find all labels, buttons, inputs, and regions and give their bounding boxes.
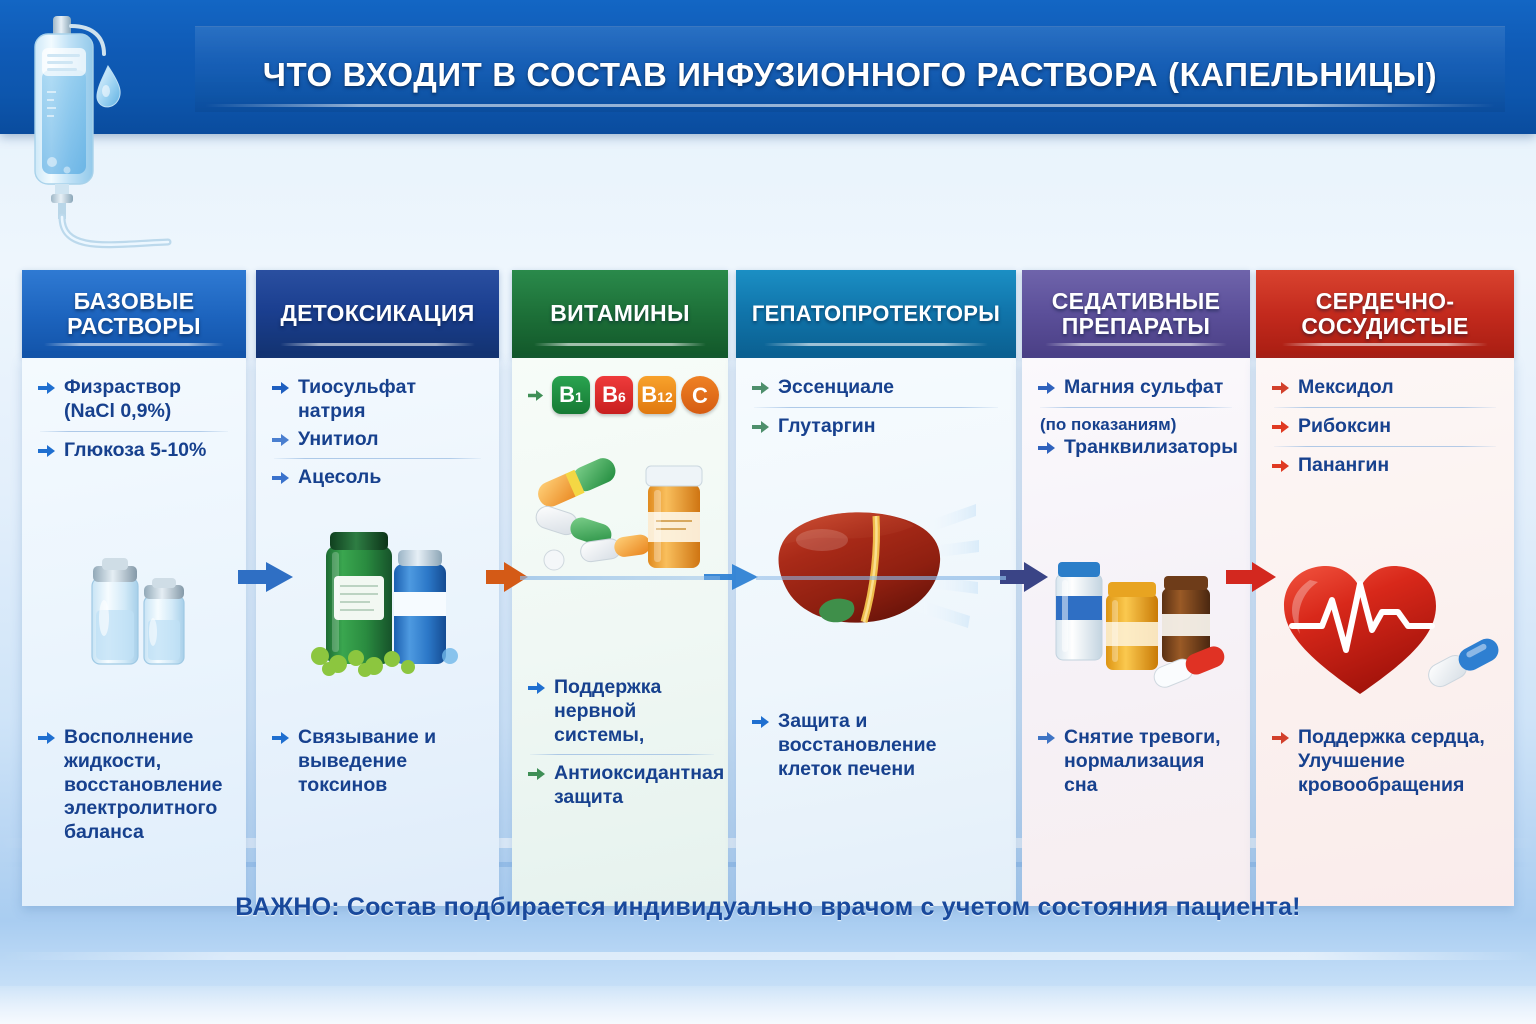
arrow-right-icon [528, 767, 546, 781]
header-shine [534, 343, 707, 346]
column-title: ДЕТОКСИКАЦИЯ [280, 301, 474, 326]
column-title-line-2: СОСУДИСТЫЕ [1301, 314, 1468, 339]
list-item[interactable]: Глутаргин [752, 415, 1000, 439]
list-item-label: Транквилизаторы [1064, 436, 1238, 460]
column-body-vitamins: B1 B6 B12 C [512, 358, 728, 906]
benefit-block: Поддержка нервной системы, Антиоксидантн… [528, 676, 716, 814]
indication-note: (по показаниям) [1040, 415, 1234, 435]
list-item[interactable]: Унитиол [272, 428, 483, 452]
column-body-sedatives: Магния сульфат (по показаниям) Транквили… [1022, 358, 1250, 906]
arrow-right-icon [752, 420, 770, 434]
benefit-block: Снятие тревоги, нормализация сна [1038, 726, 1238, 801]
category-column-base-solutions: БАЗОВЫЕ РАСТВОРЫ Физраствор (NaCl 0,9%) [22, 270, 246, 906]
divider [274, 458, 481, 459]
vitamin-badge-row: B1 B6 B12 C [528, 376, 712, 414]
background-band [0, 952, 1536, 960]
list-item-label: Панангин [1298, 454, 1389, 478]
category-column-cardiovascular: СЕРДЕЧНО- СОСУДИСТЫЕ Мексидол Рибоксин [1256, 270, 1514, 906]
list-item-label: Унитиол [298, 428, 379, 452]
green-bottle-detox-icon [302, 516, 467, 691]
benefit-block: Поддержка сердца, Улучшение кровообращен… [1272, 726, 1502, 801]
benefit-label: Связывание и выведение токсинов [298, 726, 487, 797]
benefit-label: Защита и восстановление клеток печени [778, 710, 1004, 781]
footer-note: ВАЖНО: Состав подбирается индивидуально … [0, 893, 1536, 922]
column-title-line-1: СЕРДЕЧНО- [1301, 289, 1468, 314]
arrow-right-icon [272, 381, 290, 395]
page-title: ЧТО ВХОДИТ В СОСТАВ ИНФУЗИОННОГО РАСТВОР… [195, 56, 1505, 94]
benefit-label: Антиоксидантная защита [554, 762, 724, 810]
column-title-line-1: СЕДАТИВНЫЕ [1052, 289, 1220, 314]
category-column-sedatives: СЕДАТИВНЫЕ ПРЕПАРАТЫ Магния сульфат (по … [1022, 270, 1250, 906]
column-header-detox: ДЕТОКСИКАЦИЯ [256, 270, 499, 358]
header-shine [764, 343, 988, 346]
list-item[interactable]: Магния сульфат [1038, 376, 1234, 400]
connector-line [756, 576, 1006, 580]
benefit-label: Поддержка нервной системы, [554, 676, 716, 747]
benefit-block: Защита и восстановление клеток печени [752, 710, 1004, 785]
benefit-item: Защита и восстановление клеток печени [752, 710, 1004, 781]
list-item[interactable]: Эссенциале [752, 376, 1000, 400]
arrow-right-icon [1272, 381, 1290, 395]
connector-arrow-5 [1226, 560, 1278, 594]
column-title-line-1: БАЗОВЫЕ [67, 289, 201, 314]
arrow-right-icon [528, 681, 546, 695]
column-header-vitamins: ВИТАМИНЫ [512, 270, 728, 358]
list-item[interactable]: Ацесоль [272, 466, 483, 490]
heart-with-ecg-icon [1274, 554, 1504, 714]
background-band [0, 986, 1536, 1024]
list-item-label: Физраствор (NaCl 0,9%) [64, 376, 181, 424]
vitamin-badge-b12[interactable]: B12 [638, 376, 676, 414]
benefit-item: Снятие тревоги, нормализация сна [1038, 726, 1238, 797]
column-body-cardiovascular: Мексидол Рибоксин Панангин [1256, 358, 1514, 906]
list-item-label: Глюкоза 5-10% [64, 439, 206, 463]
arrow-right-icon [272, 471, 290, 485]
header-shine [44, 343, 223, 346]
divider [530, 754, 714, 755]
benefit-item: Поддержка нервной системы, [528, 676, 716, 747]
column-title-line-2: ПРЕПАРАТЫ [1052, 314, 1220, 339]
header-bar: ЧТО ВХОДИТ В СОСТАВ ИНФУЗИОННОГО РАСТВОР… [0, 0, 1536, 134]
list-item-label: Рибоксин [1298, 415, 1391, 439]
arrow-right-icon [272, 731, 290, 745]
column-title: ВИТАМИНЫ [550, 301, 690, 326]
divider [40, 431, 228, 432]
connector-arrow-1 [236, 560, 296, 594]
capsules-and-pill-bottle-icon [530, 428, 720, 588]
arrow-right-icon [1038, 731, 1056, 745]
benefit-item: Поддержка сердца, Улучшение кровообращен… [1272, 726, 1502, 797]
connector-line [520, 576, 720, 580]
list-item-label: Тиосульфат натрия [298, 376, 483, 424]
vitamin-badge-b6[interactable]: B6 [595, 376, 633, 414]
arrow-right-icon [272, 433, 290, 447]
arrow-right-icon [1272, 459, 1290, 473]
pill-bottles-and-capsule-icon [1034, 538, 1234, 693]
divider [1040, 407, 1232, 408]
infographic-poster: ЧТО ВХОДИТ В СОСТАВ ИНФУЗИОННОГО РАСТВОР… [0, 0, 1536, 1024]
divider [1274, 407, 1496, 408]
category-column-vitamins: ВИТАМИНЫ B1 B6 B12 [512, 270, 728, 906]
arrow-right-icon [752, 715, 770, 729]
header-shine [1045, 343, 1227, 346]
list-item-label: Ацесоль [298, 466, 381, 490]
arrow-right-icon [1272, 420, 1290, 434]
column-header-cardiovascular: СЕРДЕЧНО- СОСУДИСТЫЕ [1256, 270, 1514, 358]
arrow-right-icon [1038, 381, 1056, 395]
iv-drip-bag-icon [18, 8, 203, 258]
list-item[interactable]: Тиосульфат натрия [272, 376, 483, 424]
divider [1274, 446, 1496, 447]
header-shine [1282, 343, 1488, 346]
list-item[interactable]: Физраствор (NaCl 0,9%) [38, 376, 230, 424]
benefit-item: Связывание и выведение токсинов [272, 726, 487, 797]
column-body-detox: Тиосульфат натрия Унитиол Ацесоль [256, 358, 499, 906]
benefit-label: Восполнение жидкости, восстановление эле… [64, 726, 234, 845]
benefit-block: Восполнение жидкости, восстановление эле… [38, 726, 234, 849]
header-underline [205, 104, 1495, 107]
header-shine [280, 343, 474, 346]
arrow-right-icon [528, 389, 544, 402]
benefit-label: Снятие тревоги, нормализация сна [1064, 726, 1238, 797]
benefit-item: Антиоксидантная защита [528, 762, 716, 810]
arrow-right-icon [38, 444, 56, 458]
column-header-base-solutions: БАЗОВЫЕ РАСТВОРЫ [22, 270, 246, 358]
arrow-right-icon [752, 381, 770, 395]
list-item[interactable]: Панангин [1272, 454, 1498, 478]
category-column-hepatoprotectors: ГЕПАТОПРОТЕКТОРЫ Эссенциале Глутаргин [736, 270, 1016, 906]
column-title-line-2: РАСТВОРЫ [67, 314, 201, 339]
arrow-right-icon [1272, 731, 1290, 745]
column-header-hepatoprotectors: ГЕПАТОПРОТЕКТОРЫ [736, 270, 1016, 358]
divider [754, 407, 998, 408]
column-title: ГЕПАТОПРОТЕКТОРЫ [752, 302, 1000, 326]
list-item-label: Глутаргин [778, 415, 876, 439]
column-header-sedatives: СЕДАТИВНЫЕ ПРЕПАРАТЫ [1022, 270, 1250, 358]
list-item[interactable]: Мексидол [1272, 376, 1498, 400]
list-item[interactable]: Рибоксин [1272, 415, 1498, 439]
list-item-label: Эссенциале [778, 376, 894, 400]
arrow-right-icon [1038, 441, 1056, 455]
vitamin-badge-c[interactable]: C [681, 376, 719, 414]
list-item[interactable]: Глюкоза 5-10% [38, 439, 230, 463]
benefit-block: Связывание и выведение токсинов [272, 726, 487, 801]
arrow-right-icon [38, 731, 56, 745]
list-item-label: Мексидол [1298, 376, 1394, 400]
list-item-label: Магния сульфат [1064, 376, 1223, 400]
connector-arrow-4 [1000, 560, 1050, 594]
arrow-right-icon [38, 381, 56, 395]
glass-ampoule-vials-icon [74, 548, 204, 678]
column-body-hepatoprotectors: Эссенциале Глутаргин [736, 358, 1016, 906]
benefit-label: Поддержка сердца, Улучшение кровообращен… [1298, 726, 1502, 797]
benefit-item: Восполнение жидкости, восстановление эле… [38, 726, 234, 845]
list-item[interactable]: Транквилизаторы [1038, 436, 1234, 460]
vitamin-badge-b1[interactable]: B1 [552, 376, 590, 414]
column-body-base-solutions: Физраствор (NaCl 0,9%) Глюкоза 5-10% [22, 358, 246, 906]
